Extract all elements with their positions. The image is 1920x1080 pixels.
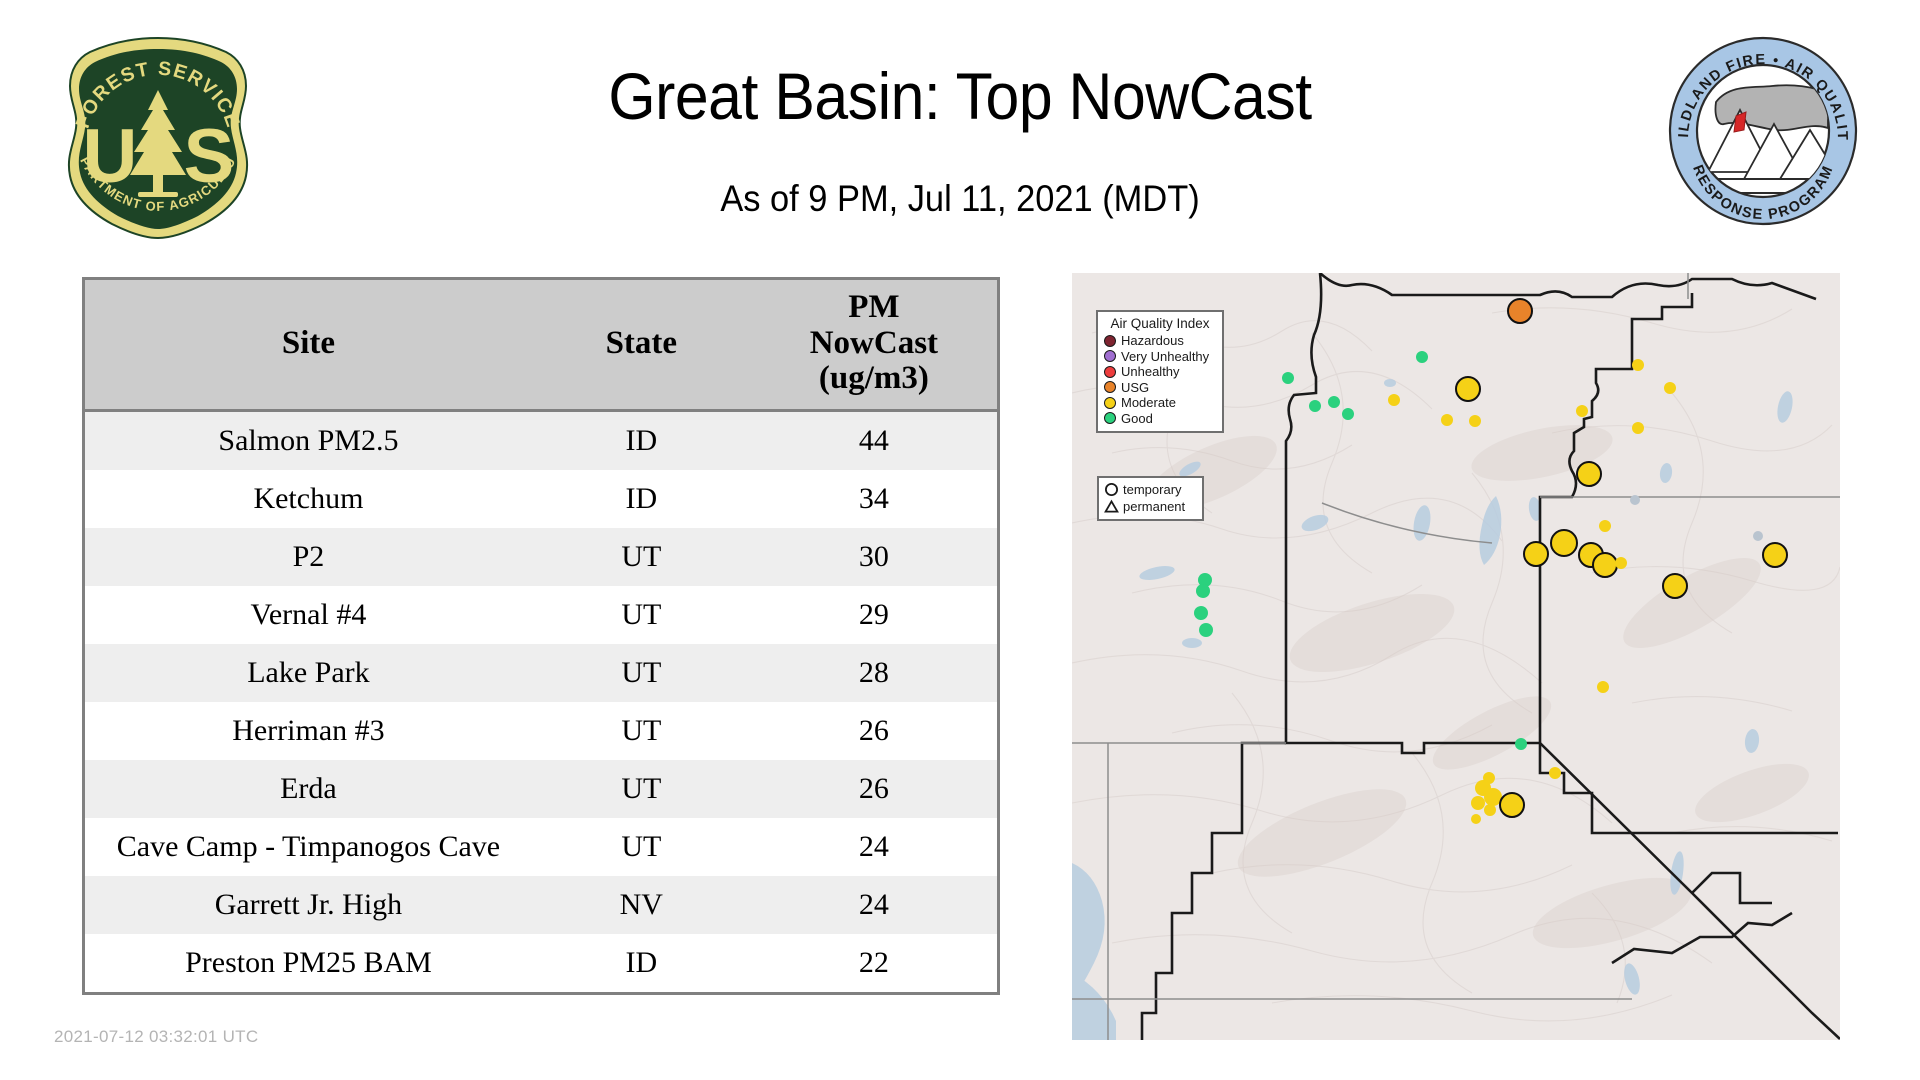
monitor-dot[interactable] <box>1469 415 1481 427</box>
table-row: Salmon PM2.5ID44 <box>85 410 997 470</box>
page-subtitle: As of 9 PM, Jul 11, 2021 (MDT) <box>67 178 1853 220</box>
aqi-legend-dot-icon <box>1104 366 1116 378</box>
aqi-legend-label: Unhealthy <box>1121 365 1180 378</box>
monitor-dot[interactable] <box>1576 461 1602 487</box>
table-row: Preston PM25 BAMID22 <box>85 934 997 992</box>
monitor-dot[interactable] <box>1471 796 1485 810</box>
cell-pm-nowcast: 22 <box>751 934 997 992</box>
monitor-dot[interactable] <box>1753 531 1763 541</box>
monitor-dot[interactable] <box>1484 804 1496 816</box>
cell-pm-nowcast: 28 <box>751 644 997 702</box>
aqi-legend-row: Very Unhealthy <box>1104 349 1216 365</box>
cell-pm-nowcast: 24 <box>751 818 997 876</box>
aqi-legend-dot-icon <box>1104 335 1116 347</box>
monitor-type-legend: temporary permanent <box>1097 476 1204 521</box>
cell-pm-nowcast: 34 <box>751 470 997 528</box>
aqi-legend-label: USG <box>1121 381 1149 394</box>
legend-label-permanent: permanent <box>1123 500 1185 513</box>
cell-state: UT <box>532 760 751 818</box>
column-header-site: Site <box>85 280 532 410</box>
cell-state: ID <box>532 410 751 470</box>
monitor-dot[interactable] <box>1194 606 1208 620</box>
monitor-dot[interactable] <box>1549 767 1561 779</box>
cell-state: UT <box>532 702 751 760</box>
monitor-dot[interactable] <box>1550 529 1578 557</box>
monitor-dot[interactable] <box>1597 681 1609 693</box>
table-row: ErdaUT26 <box>85 760 997 818</box>
monitor-dot[interactable] <box>1441 414 1453 426</box>
circle-icon <box>1104 482 1119 497</box>
table-row: Lake ParkUT28 <box>85 644 997 702</box>
cell-pm-nowcast: 44 <box>751 410 997 470</box>
monitor-dot[interactable] <box>1523 541 1549 567</box>
monitor-dot[interactable] <box>1615 557 1627 569</box>
footer-timestamp: 2021-07-12 03:32:01 UTC <box>54 1027 258 1047</box>
cell-site: Salmon PM2.5 <box>85 410 532 470</box>
legend-label-temporary: temporary <box>1123 483 1182 496</box>
monitor-dot[interactable] <box>1471 814 1481 824</box>
aqi-legend-title: Air Quality Index <box>1104 316 1216 331</box>
aqi-legend: Air Quality Index HazardousVery Unhealth… <box>1096 310 1224 433</box>
page-title: Great Basin: Top NowCast <box>77 58 1843 134</box>
table-header-row: Site State PM NowCast (ug/m3) <box>85 280 997 410</box>
cell-state: UT <box>532 644 751 702</box>
monitor-dot[interactable] <box>1576 405 1588 417</box>
monitor-dot[interactable] <box>1515 738 1527 750</box>
table-row: Garrett Jr. HighNV24 <box>85 876 997 934</box>
table-row: Cave Camp - Timpanogos CaveUT24 <box>85 818 997 876</box>
aqi-legend-dot-icon <box>1104 350 1116 362</box>
monitor-dot[interactable] <box>1662 573 1688 599</box>
aqi-legend-row: Moderate <box>1104 395 1216 411</box>
monitor-dot[interactable] <box>1388 394 1400 406</box>
cell-state: UT <box>532 528 751 586</box>
column-header-pm-nowcast: PM NowCast (ug/m3) <box>751 280 997 410</box>
monitor-dot[interactable] <box>1664 382 1676 394</box>
legend-row-permanent: permanent <box>1104 498 1197 515</box>
pm-header-line2: NowCast <box>755 326 993 362</box>
aqi-legend-label: Good <box>1121 412 1153 425</box>
monitor-dot[interactable] <box>1599 520 1611 532</box>
aqi-legend-dot-icon <box>1104 397 1116 409</box>
monitor-dot[interactable] <box>1328 396 1340 408</box>
triangle-icon <box>1104 499 1119 514</box>
monitor-dot[interactable] <box>1762 542 1788 568</box>
cell-pm-nowcast: 26 <box>751 702 997 760</box>
cell-state: UT <box>532 586 751 644</box>
cell-site: Vernal #4 <box>85 586 532 644</box>
monitor-dot[interactable] <box>1282 372 1294 384</box>
pm-header-line1: PM <box>755 290 993 326</box>
cell-site: Cave Camp - Timpanogos Cave <box>85 818 532 876</box>
aqi-legend-dot-icon <box>1104 381 1116 393</box>
monitor-dot[interactable] <box>1630 495 1640 505</box>
cell-pm-nowcast: 30 <box>751 528 997 586</box>
cell-state: ID <box>532 934 751 992</box>
monitor-dot[interactable] <box>1416 351 1428 363</box>
cell-pm-nowcast: 26 <box>751 760 997 818</box>
table-row: P2UT30 <box>85 528 997 586</box>
aqi-map[interactable]: Air Quality Index HazardousVery Unhealth… <box>1072 273 1840 1040</box>
table-row: Herriman #3UT26 <box>85 702 997 760</box>
aqi-legend-label: Very Unhealthy <box>1121 350 1209 363</box>
pm-header-line3: (ug/m3) <box>755 361 993 397</box>
cell-site: Lake Park <box>85 644 532 702</box>
cell-pm-nowcast: 29 <box>751 586 997 644</box>
cell-site: Ketchum <box>85 470 532 528</box>
cell-site: P2 <box>85 528 532 586</box>
table-row: KetchumID34 <box>85 470 997 528</box>
aqi-legend-row: Good <box>1104 411 1216 427</box>
cell-site: Preston PM25 BAM <box>85 934 532 992</box>
aqi-legend-row: Hazardous <box>1104 333 1216 349</box>
cell-site: Herriman #3 <box>85 702 532 760</box>
monitor-dot[interactable] <box>1499 792 1525 818</box>
cell-pm-nowcast: 24 <box>751 876 997 934</box>
cell-site: Garrett Jr. High <box>85 876 532 934</box>
aqi-legend-dot-icon <box>1104 412 1116 424</box>
monitor-dot[interactable] <box>1342 408 1354 420</box>
monitor-dot[interactable] <box>1507 298 1533 324</box>
monitor-dot[interactable] <box>1199 623 1213 637</box>
aqi-legend-row: USG <box>1104 380 1216 396</box>
cell-state: UT <box>532 818 751 876</box>
aqi-legend-label: Hazardous <box>1121 334 1184 347</box>
nowcast-table: Site State PM NowCast (ug/m3) Salmon PM2… <box>82 277 1000 995</box>
monitor-dot[interactable] <box>1455 376 1481 402</box>
monitor-dot[interactable] <box>1309 400 1321 412</box>
monitor-dot[interactable] <box>1632 359 1644 371</box>
aqi-legend-row: Unhealthy <box>1104 364 1216 380</box>
monitor-dot[interactable] <box>1592 552 1618 578</box>
cell-site: Erda <box>85 760 532 818</box>
cell-state: ID <box>532 470 751 528</box>
monitor-dot[interactable] <box>1196 584 1210 598</box>
column-header-state: State <box>532 280 751 410</box>
legend-row-temporary: temporary <box>1104 481 1197 498</box>
table-row: Vernal #4UT29 <box>85 586 997 644</box>
cell-state: NV <box>532 876 751 934</box>
aqi-legend-label: Moderate <box>1121 396 1176 409</box>
monitor-dot[interactable] <box>1632 422 1644 434</box>
